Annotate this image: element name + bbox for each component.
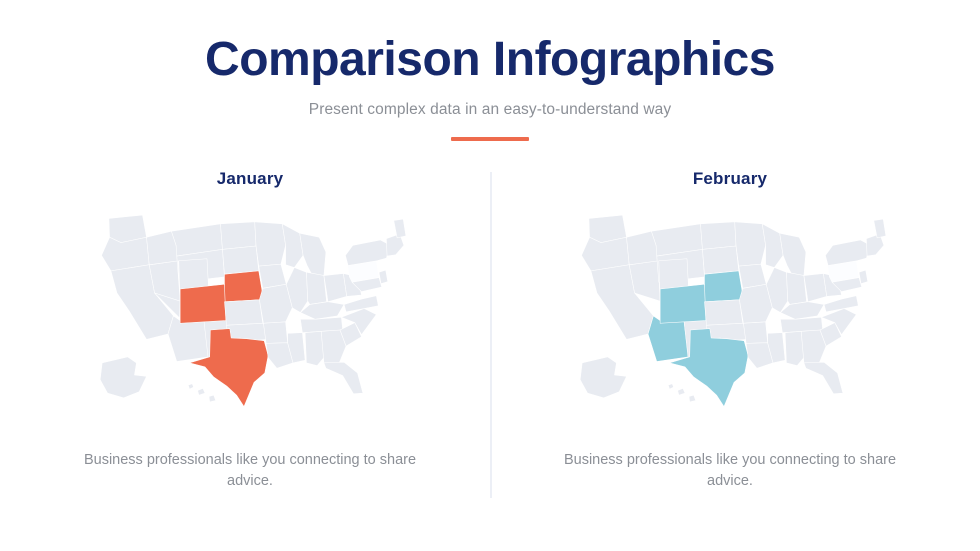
state-ohio <box>804 274 827 302</box>
state-indiana <box>786 272 806 304</box>
column-title-january: January <box>30 169 470 189</box>
state-minnesota <box>255 222 286 266</box>
state-iowa <box>739 264 767 288</box>
column-caption-february: Business professionals like you connecti… <box>550 450 910 492</box>
state-south-dakota <box>222 246 258 274</box>
state-kansas <box>224 300 262 326</box>
state-kentucky <box>300 302 344 319</box>
vertical-divider <box>490 172 492 498</box>
page-title: Comparison Infographics <box>0 34 980 87</box>
state-new-york <box>825 240 870 266</box>
state-minnesota <box>735 222 766 266</box>
map-february <box>568 205 892 420</box>
state-north-dakota <box>700 222 736 250</box>
us-map-svg-february <box>568 205 892 420</box>
slide-header: Comparison Infographics Present complex … <box>0 34 980 141</box>
state-hawaii <box>668 384 696 402</box>
state-florida <box>804 362 843 394</box>
state-arkansas <box>743 322 767 344</box>
state-south-dakota <box>702 246 738 274</box>
state-colorado <box>180 284 226 323</box>
state-missouri <box>259 284 292 323</box>
comparison-column-january: January <box>30 165 470 515</box>
state-new-york <box>345 240 390 266</box>
state-missouri <box>739 284 772 323</box>
state-wisconsin <box>282 224 303 268</box>
state-colorado <box>660 284 706 323</box>
state-nebraska <box>224 271 262 302</box>
state-hawaii <box>188 384 216 402</box>
state-iowa <box>259 264 287 288</box>
state-arkansas <box>263 322 287 344</box>
state-michigan <box>300 233 326 277</box>
page-subtitle: Present complex data in an easy-to-under… <box>0 101 980 119</box>
comparison-column-february: February <box>510 165 950 515</box>
map-january <box>88 205 412 420</box>
state-north-dakota <box>220 222 256 250</box>
state-michigan <box>780 233 806 277</box>
state-nebraska <box>704 271 742 302</box>
us-map-svg-january <box>88 205 412 420</box>
column-title-february: February <box>510 169 950 189</box>
state-wisconsin <box>762 224 783 268</box>
slide-canvas: Comparison Infographics Present complex … <box>0 0 980 551</box>
state-alabama <box>785 331 804 365</box>
title-accent-rule <box>451 137 529 141</box>
state-ohio <box>324 274 347 302</box>
state-florida <box>324 362 363 394</box>
state-alabama <box>305 331 324 365</box>
state-kentucky <box>780 302 824 319</box>
state-alaska <box>580 357 626 398</box>
state-alaska <box>100 357 146 398</box>
state-indiana <box>306 272 326 304</box>
state-kansas <box>704 300 742 326</box>
column-caption-january: Business professionals like you connecti… <box>70 450 430 492</box>
